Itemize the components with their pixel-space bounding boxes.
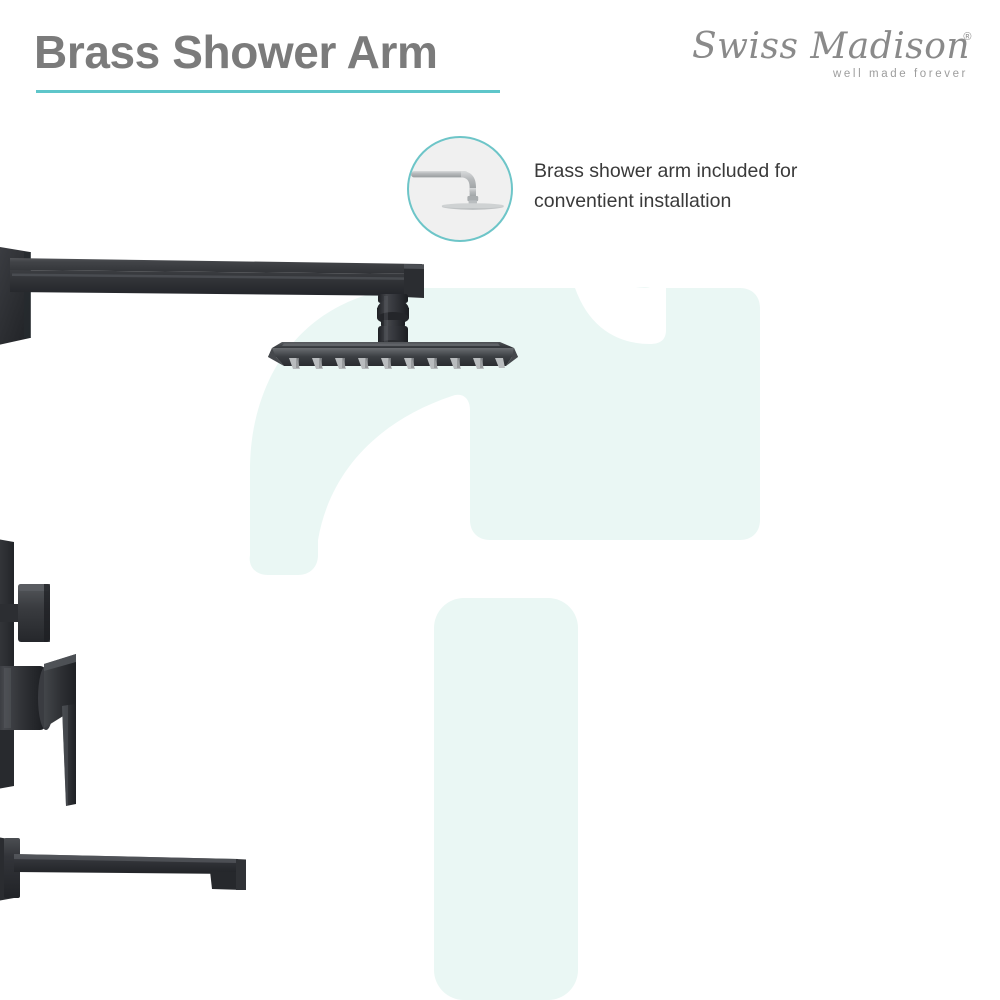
brand-tagline: well made forever — [833, 68, 968, 80]
brand-name: Swiss Madison® — [692, 26, 974, 67]
page-title: Brass Shower Arm — [34, 28, 438, 76]
shower-arm-product-photo — [0, 238, 540, 398]
shower-arm-icon — [409, 138, 511, 240]
valve-trim-product-photo — [0, 538, 270, 938]
product-feature-image: Brass Shower Arm Swiss Madison® well mad… — [0, 0, 1000, 1000]
registered-trademark-icon: ® — [963, 31, 972, 43]
title-underline-rule — [36, 90, 500, 93]
callout-badge — [407, 136, 513, 242]
callout-description: Brass shower arm included for conventien… — [534, 157, 894, 216]
brand-logo: Swiss Madison® well made forever — [692, 26, 974, 88]
brand-name-text: Swiss Madison — [692, 26, 970, 67]
